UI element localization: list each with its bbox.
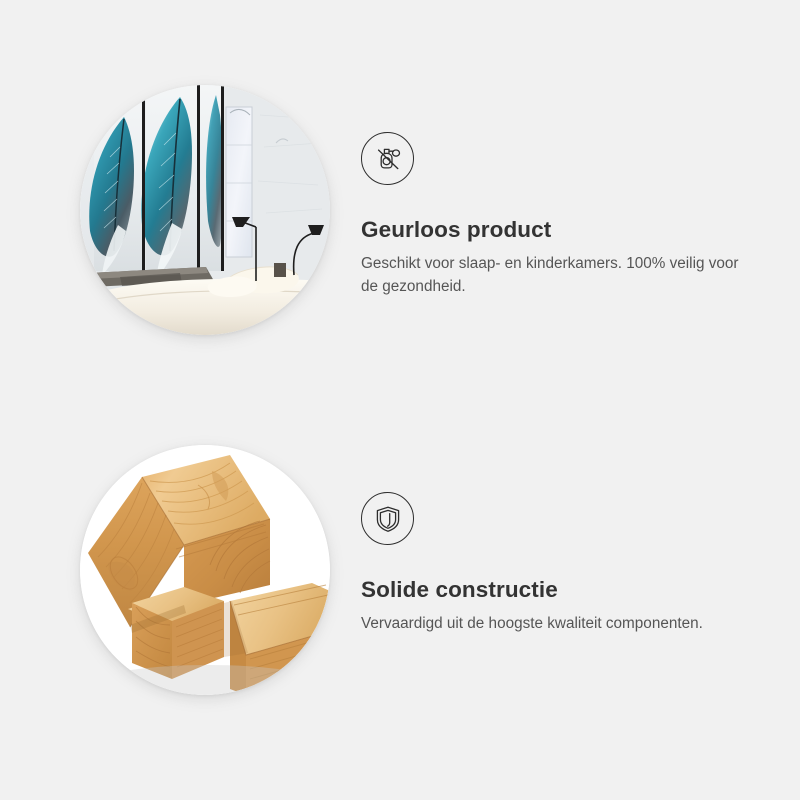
shield-icon (361, 492, 414, 545)
feature-description: Vervaardigd uit de hoogste kwaliteit com… (361, 612, 751, 635)
feature-row: Geurloos product Geschikt voor slaap- en… (0, 80, 800, 340)
feature-row: Solide constructie Vervaardigd uit de ho… (0, 440, 800, 700)
feature-photo-wrapper (75, 440, 335, 700)
feature-title: Solide constructie (361, 576, 800, 603)
feature-text-block: Solide constructie Vervaardigd uit de ho… (335, 440, 800, 635)
product-features-page: Geurloos product Geschikt voor slaap- en… (0, 0, 800, 800)
feature-description: Geschikt voor slaap- en kinderkamers. 10… (361, 252, 751, 299)
feature-photo-wrapper (75, 80, 335, 340)
no-fragrance-icon (361, 132, 414, 185)
feature-title: Geurloos product (361, 216, 800, 243)
bedroom-feather-wall-art-photo (80, 85, 330, 335)
feature-text-block: Geurloos product Geschikt voor slaap- en… (335, 80, 800, 299)
wooden-beams-photo (80, 445, 330, 695)
